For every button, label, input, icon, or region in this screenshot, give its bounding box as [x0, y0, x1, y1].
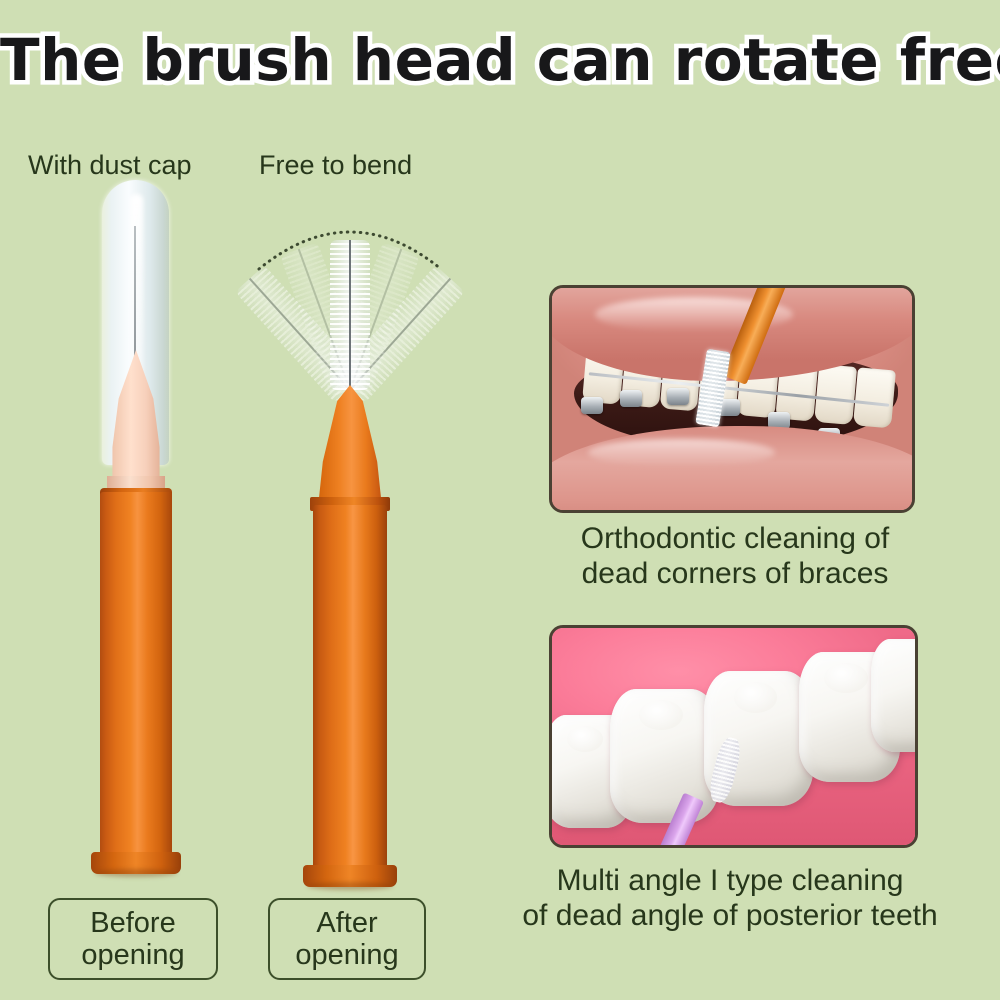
caption-after-opening-text: After opening: [295, 907, 398, 972]
brush-wire: [134, 226, 136, 371]
braces-photo: [549, 285, 915, 513]
brush-handle: [313, 505, 387, 873]
molar-cusp: [824, 663, 868, 693]
caption-before-opening-text: Before opening: [81, 907, 184, 972]
caption-after-opening: After opening: [268, 898, 426, 980]
infographic-canvas: The brush head can rotate freely With du…: [0, 0, 1000, 1000]
page-title: The brush head can rotate freely: [0, 26, 1000, 94]
molars-photo: [549, 625, 918, 848]
molar-cusp: [567, 726, 603, 752]
tooth: [853, 367, 896, 428]
handle-foot-shadow: [95, 869, 177, 877]
label-free-to-bend: Free to bend: [259, 150, 412, 181]
caption-before-opening: Before opening: [48, 898, 218, 980]
braces-photo-caption: Orthodontic cleaning of dead corners of …: [500, 521, 970, 591]
molar-row: [552, 628, 915, 845]
handle-foot-shadow: [307, 882, 393, 890]
tooth: [815, 364, 858, 425]
braces-bracket: [667, 388, 689, 405]
bristle-core-wire: [349, 240, 351, 392]
molar-cusp: [734, 682, 778, 712]
molar-tooth: [871, 639, 918, 752]
brush-handle: [100, 492, 172, 860]
bristle-position-center: [330, 240, 370, 390]
molar-cusp: [639, 700, 683, 730]
lower-lip-highlight: [588, 439, 775, 466]
braces-bracket: [620, 390, 642, 407]
label-with-dust-cap: With dust cap: [28, 150, 192, 181]
braces-bracket: [581, 397, 603, 414]
product-brush-capped: [85, 180, 205, 880]
product-brush-opened: [255, 205, 445, 880]
molars-photo-caption: Multi angle I type cleaning of dead angl…: [460, 863, 1000, 933]
